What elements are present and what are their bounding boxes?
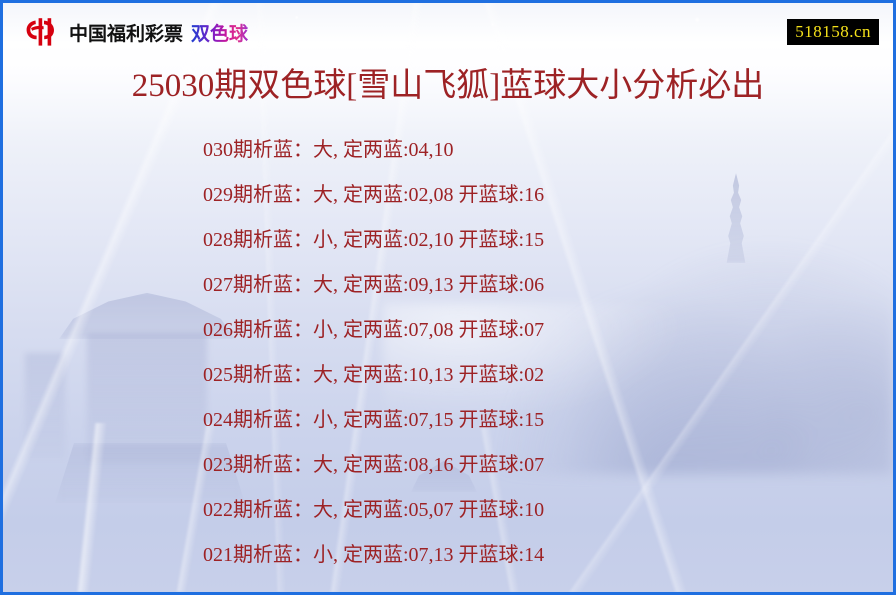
list-item: 027期析蓝：大, 定两蓝:09,13 开蓝球:06 [3,263,893,308]
list-item: 030期析蓝：大, 定两蓝:04,10 [3,128,893,173]
product-name-label: 双色球 [191,19,248,46]
list-item: 023期析蓝：大, 定两蓝:08,16 开蓝球:07 [3,443,893,488]
page-frame: 中国福利彩票 双色球 518158.cn 25030期双色球[雪山飞狐]蓝球大小… [0,0,896,595]
list-item: 022期析蓝：大, 定两蓝:05,07 开蓝球:10 [3,488,893,533]
list-item: 029期析蓝：大, 定两蓝:02,08 开蓝球:16 [3,173,893,218]
welfare-lottery-emblem-icon [25,16,61,48]
list-item: 026期析蓝：小, 定两蓝:07,08 开蓝球:07 [3,308,893,353]
list-item: 024期析蓝：小, 定两蓝:07,15 开蓝球:15 [3,398,893,443]
analysis-list: 030期析蓝：大, 定两蓝:04,10 029期析蓝：大, 定两蓝:02,08 … [3,128,893,578]
list-item: 025期析蓝：大, 定两蓝:10,13 开蓝球:02 [3,353,893,398]
header-bar: 中国福利彩票 双色球 518158.cn [3,3,893,61]
brand-name-label: 中国福利彩票 [69,19,183,46]
list-item: 021期析蓝：小, 定两蓝:07,13 开蓝球:14 [3,533,893,578]
page-title: 25030期双色球[雪山飞狐]蓝球大小分析必出 [3,66,893,106]
list-item: 028期析蓝：小, 定两蓝:02,10 开蓝球:15 [3,218,893,263]
site-watermark: 518158.cn [787,19,879,45]
brand-logo[interactable]: 中国福利彩票 双色球 [25,16,248,48]
